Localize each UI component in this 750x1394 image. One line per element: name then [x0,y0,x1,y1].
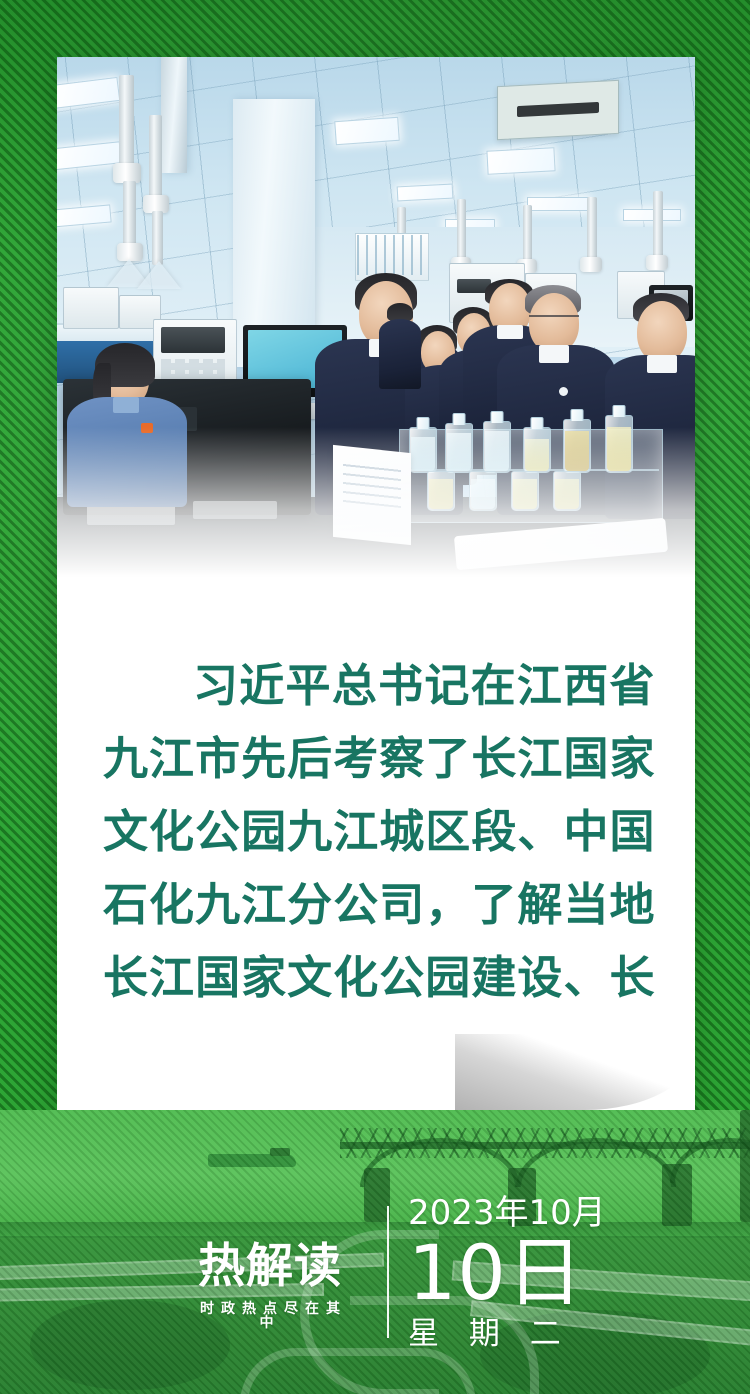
person-head [637,301,687,363]
person-body [379,319,421,389]
card-page-curl [57,1022,695,1110]
lab-instrument [63,287,119,329]
collar [647,355,677,373]
extraction-hood [137,261,181,289]
ceiling-lamp [527,197,589,211]
ceiling-lamp [397,184,454,202]
ceiling-lamp [486,147,555,175]
extraction-arm [123,181,136,247]
air-conditioning-vent [497,80,619,140]
eyeglasses [529,315,579,327]
vial-rack-tubes [357,235,425,275]
brand-name: 热解读 [185,1243,355,1290]
collar [113,397,139,413]
brand-logo[interactable]: 热解读 时政热点尽在其中 [185,1243,355,1330]
extraction-arm [149,115,162,199]
extraction-arm [457,199,466,261]
content-card: 习近平总书记在江西省九江市先后考察了长江国家文化公园九江城区段、中国石化九江分公… [57,57,695,1110]
extraction-arm-joint [580,257,602,272]
brand-tagline: 时政热点尽在其中 [185,1302,355,1330]
extraction-arm-joint [113,163,141,183]
bottle-neck [571,409,584,421]
footer-divider [387,1206,389,1338]
bottle-neck [491,411,504,423]
poster-root: 习近平总书记在江西省九江市先后考察了长江国家文化公园九江城区段、中国石化九江分公… [0,0,750,1394]
laboratory-inspection-photo [57,57,695,577]
structural-pillar [161,57,187,173]
vent-slot [517,102,599,118]
extraction-arm [653,191,663,259]
extraction-arm [523,205,532,263]
collar [497,325,523,339]
date-weekday: 星 期 二 [408,1317,658,1351]
photo-bottom-fade [57,427,695,577]
date-day: 10日 [408,1234,658,1312]
extraction-arm [152,211,163,265]
chromatograph-display [161,327,225,353]
date-year-month: 2023年10月 [408,1196,658,1232]
extraction-arm [119,75,134,167]
ceiling-lamp [623,209,681,221]
bottle-neck [613,405,626,417]
ceiling-lamp [334,117,400,145]
extraction-arm [587,197,597,261]
date-block: 2023年10月 10日 星 期 二 [408,1196,658,1351]
extraction-arm-joint [646,255,668,270]
bottle-neck [453,413,466,425]
collar [539,345,569,363]
lapel-pin [559,387,568,396]
